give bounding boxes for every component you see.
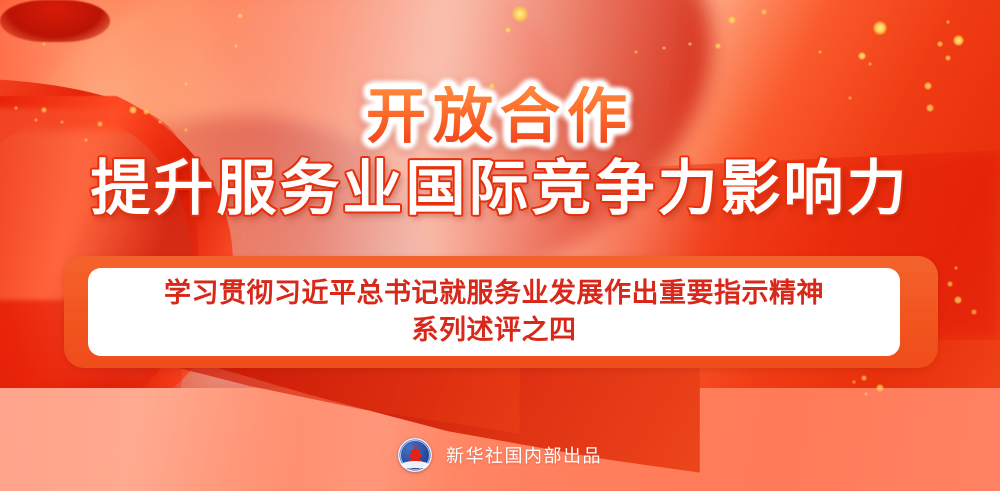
sparkle-particle: [861, 375, 868, 382]
sparkle-particle: [937, 41, 944, 48]
logo-banner: [398, 461, 432, 468]
sparkle-particle: [728, 16, 737, 25]
sparkle-particle: [945, 55, 952, 62]
poster-canvas: 开放合作 提升服务业国际竞争力影响力 学习贯彻习近平总书记就服务业发展作出重要指…: [0, 0, 1000, 491]
sparkle-particle: [868, 62, 872, 66]
sparkle-particle: [954, 296, 963, 305]
sparkle-particle: [662, 46, 666, 50]
sparkle-particle: [42, 42, 46, 46]
sparkle-particle: [237, 13, 244, 20]
sparkle-particle: [505, 27, 512, 34]
subtitle-line-2: 系列述评之四: [412, 313, 577, 350]
sparkle-particle: [971, 309, 978, 316]
sparkle-particle: [818, 50, 822, 54]
subtitle-line-1: 学习贯彻习近平总书记就服务业发展作出重要指示精神: [164, 276, 824, 313]
headline-block: 开放合作 提升服务业国际竞争力影响力: [0, 86, 1000, 222]
sparkle-particle: [858, 52, 867, 61]
sparkle-particles: [0, 0, 1000, 491]
sparkle-particle: [947, 281, 954, 288]
logo-tower-shape: [409, 445, 422, 462]
sparkle-particle: [852, 380, 856, 384]
sparkle-particle: [946, 20, 950, 24]
footer-credit: 新华社国内部出品: [0, 438, 1000, 472]
sparkle-particle: [876, 384, 885, 393]
headline-primary: 开放合作: [0, 86, 1000, 149]
sparkle-particle: [715, 43, 722, 50]
sparkle-particle: [761, 9, 768, 16]
headline-secondary: 提升服务业国际竞争力影响力: [0, 157, 1000, 222]
xinhua-logo-icon: [398, 438, 432, 472]
sparkle-particle: [688, 42, 692, 46]
footer-credit-text: 新华社国内部出品: [446, 442, 602, 468]
sparkle-particle: [634, 50, 638, 54]
sparkle-particle: [234, 44, 238, 48]
sparkle-particle: [873, 21, 886, 34]
logo-tower-arm: [409, 454, 422, 456]
sparkle-particle: [512, 6, 527, 21]
sparkle-particle: [953, 35, 964, 46]
sparkle-particle: [954, 266, 958, 270]
sparkle-particle: [864, 392, 868, 396]
subtitle-box: 学习贯彻习近平总书记就服务业发展作出重要指示精神 系列述评之四: [88, 268, 900, 356]
